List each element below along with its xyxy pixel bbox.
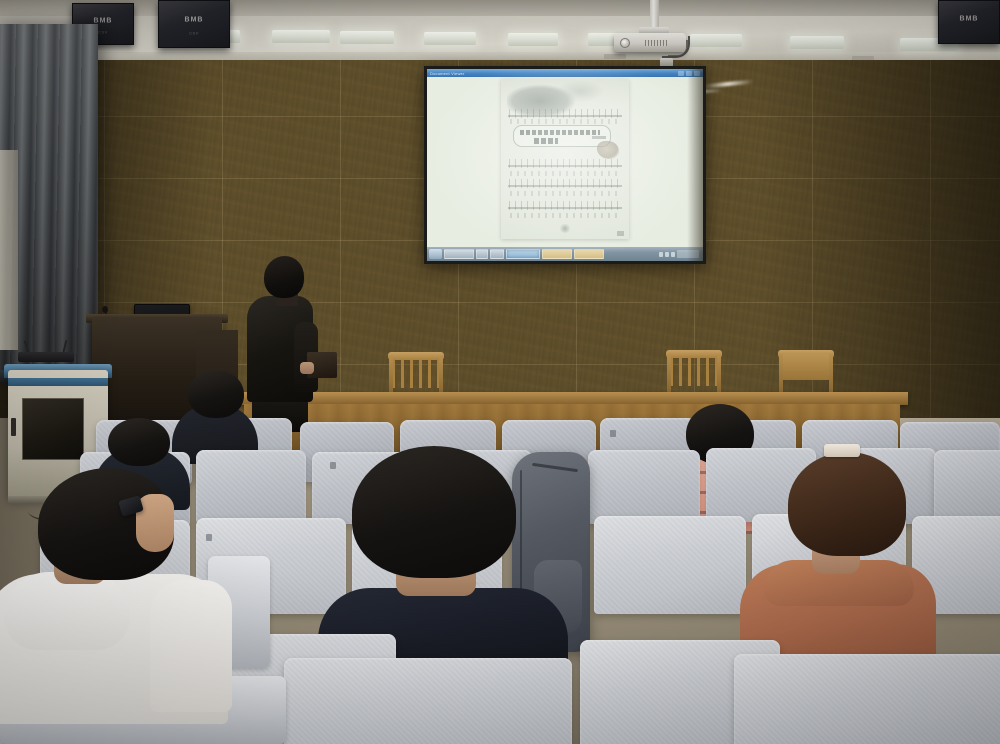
projector-lens-icon <box>620 38 630 48</box>
song-title-text <box>520 130 600 135</box>
wall-speaker-far-right: BMB <box>938 0 1000 44</box>
music-notes-row <box>509 109 621 118</box>
taskbar[interactable] <box>427 247 703 261</box>
chair-frame-right <box>717 354 721 392</box>
seat-row3-2 <box>196 450 306 524</box>
cabinet-handle[interactable] <box>11 418 16 436</box>
chair-back-top <box>666 350 722 358</box>
taskbar-item-editor[interactable] <box>574 249 604 259</box>
chair-frame-left <box>389 356 393 394</box>
decorative-illustration <box>597 141 619 159</box>
chair-frame-right <box>829 354 833 392</box>
seat-row3-5 <box>588 450 700 524</box>
seat-tag-row4 <box>610 430 616 437</box>
taskbar-item-explorer[interactable] <box>444 249 474 259</box>
taskbar-item-media[interactable] <box>490 249 504 259</box>
music-notes-row <box>509 179 621 188</box>
ceiling-light-3 <box>424 32 476 45</box>
wireless-router <box>18 352 74 362</box>
ceiling-light-4 <box>508 33 558 46</box>
wood-chair-2 <box>666 350 722 396</box>
taskbar-item-folder[interactable] <box>476 249 488 259</box>
screen-edge-shading <box>687 69 703 261</box>
microphone-icon <box>102 306 108 313</box>
page-seal-stamp <box>559 224 571 233</box>
tray-network-icon[interactable] <box>659 252 663 257</box>
window-titlebar: Document Viewer <box>427 69 703 77</box>
window-frame <box>0 150 18 350</box>
lyric-row <box>510 119 620 124</box>
song-credit-text <box>592 136 606 139</box>
ceiling-light-2 <box>340 31 394 44</box>
seat-tag-row2 <box>206 534 212 541</box>
taskbar-item-viewer[interactable] <box>506 249 540 259</box>
wall-speaker-right: BMB CSV <box>158 0 230 48</box>
backpack-zipper <box>532 463 578 472</box>
sheet-music-page <box>501 79 629 239</box>
seat-row2-4 <box>594 516 746 614</box>
presenter-hand <box>300 362 314 374</box>
speaker-brand-label: BMB <box>960 15 979 22</box>
speaker-model-label: CSV <box>189 31 199 36</box>
attendee-brown-hoodie-head <box>788 452 906 556</box>
chair-frame-left <box>667 354 671 392</box>
equipment-cabinet-trim <box>8 378 108 386</box>
document-canvas[interactable] <box>427 77 703 247</box>
speaker-model-label: CSV <box>98 30 108 35</box>
chair-back-panel <box>780 354 832 380</box>
ceiling-vent-1 <box>604 54 626 59</box>
projector-mount-pole <box>650 0 659 30</box>
presenter-head <box>264 256 304 298</box>
page-number <box>617 231 624 236</box>
tray-volume-icon[interactable] <box>665 252 669 257</box>
lyric-row <box>510 213 620 218</box>
window-title: Document Viewer <box>430 71 465 76</box>
wood-chair-3 <box>778 350 834 396</box>
equipment-cabinet-window <box>22 398 84 460</box>
attendee-back-left-head <box>188 370 244 418</box>
minimize-icon[interactable] <box>678 71 684 76</box>
ceiling-light-1 <box>272 30 330 43</box>
ceiling-light-7 <box>790 36 844 49</box>
lyric-row <box>510 171 620 176</box>
music-notes-row <box>509 159 621 168</box>
chair-frame-right <box>439 356 443 394</box>
attendee-white-hoodie-arm <box>150 580 232 712</box>
song-subtitle-text <box>534 138 558 144</box>
attendee-far-left-head <box>108 418 170 466</box>
chair-back-slats <box>392 360 440 388</box>
lyric-row <box>510 191 620 196</box>
lecture-hall-photo: BMB CSV BMB CSV BMB Document Viewer <box>0 0 1000 744</box>
tray-battery-icon[interactable] <box>671 252 675 257</box>
hair-clip <box>824 444 860 457</box>
music-notes-row <box>509 201 621 210</box>
taskbar-item-document[interactable] <box>542 249 572 259</box>
chair-back-top <box>388 352 444 360</box>
ceiling-band <box>0 0 1000 16</box>
song-title-box <box>513 125 611 147</box>
attendee-navy-center-head <box>352 446 516 578</box>
chair-frame-left <box>779 354 783 392</box>
seat-row1-5 <box>734 654 1000 744</box>
seat-tag-row3 <box>330 462 336 469</box>
speaker-brand-label: BMB <box>185 17 204 24</box>
projection-screen-frame: Document Viewer <box>424 66 706 264</box>
seat-row1-3 <box>284 658 572 744</box>
projection-screen[interactable]: Document Viewer <box>427 69 703 261</box>
ceiling-light-6 <box>690 34 742 47</box>
start-button-icon[interactable] <box>429 249 442 259</box>
chair-back-slats <box>670 358 718 386</box>
seat-row3-8 <box>934 450 1000 526</box>
